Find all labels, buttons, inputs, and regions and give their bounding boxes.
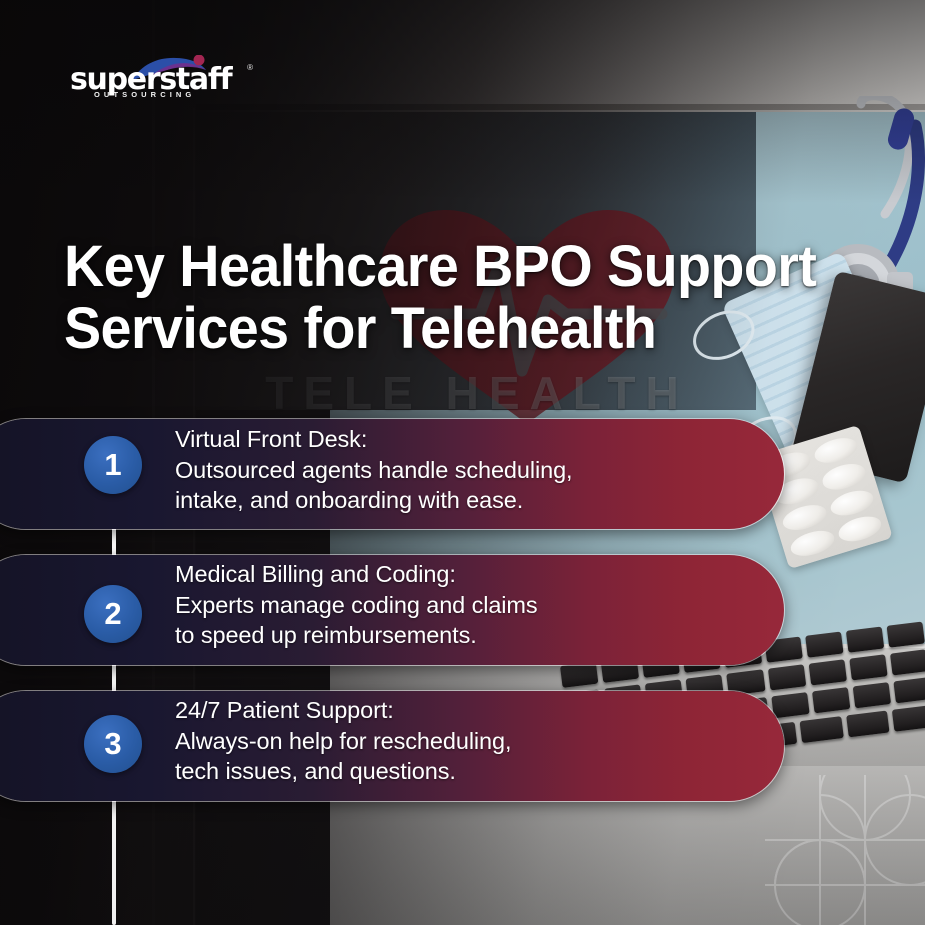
service-card-title: Virtual Front Desk: — [175, 424, 735, 455]
step-badge: 3 — [84, 715, 142, 773]
service-card-title: Medical Billing and Coding: — [175, 559, 735, 590]
registered-trademark-icon: ® — [247, 63, 253, 72]
service-card-body-line-1: Experts manage coding and claims — [175, 590, 735, 621]
step-badge: 2 — [84, 585, 142, 643]
infographic-poster: TELE HEALTH — [0, 0, 925, 925]
service-card-text: Virtual Front Desk: Outsourced agents ha… — [175, 424, 735, 516]
service-card-body-line-2: intake, and onboarding with ease. — [175, 485, 735, 516]
page-title: Key Healthcare BPO Support Services for … — [64, 236, 861, 360]
service-card-body-line-1: Outsourced agents handle scheduling, — [175, 455, 735, 486]
service-card-body-line-1: Always-on help for rescheduling, — [175, 726, 735, 757]
headline-line-2: Services for Telehealth — [64, 298, 861, 360]
service-card-body-line-2: tech issues, and questions. — [175, 756, 735, 787]
service-card-title: 24/7 Patient Support: — [175, 695, 735, 726]
superstaff-logo[interactable]: superstaff ® OUTSOURCING — [70, 57, 250, 101]
logo-tagline: OUTSOURCING — [94, 90, 195, 99]
headline-line-1: Key Healthcare BPO Support — [64, 236, 861, 298]
step-badge: 1 — [84, 436, 142, 494]
service-card-body-line-2: to speed up reimbursements. — [175, 620, 735, 651]
service-card-text: Medical Billing and Coding: Experts mana… — [175, 559, 735, 651]
service-card-text: 24/7 Patient Support: Always-on help for… — [175, 695, 735, 787]
